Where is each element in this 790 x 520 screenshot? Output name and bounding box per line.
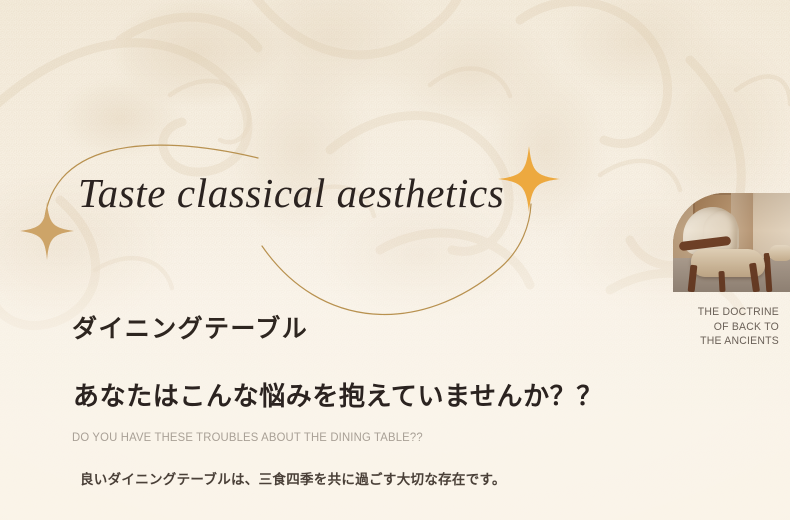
photo-shading-overlay: [673, 193, 790, 292]
dining-chair-photo: [673, 193, 790, 292]
supporting-note: 良いダイニングテーブルは、三食四季を共に過ごす大切な存在です。: [80, 468, 506, 488]
photo-illustration: [673, 193, 790, 292]
question-headline: あなたはこんな悩みを抱えていませんか？？: [73, 376, 603, 413]
photo-caption-line-1: THE DOCTRINE: [637, 305, 780, 320]
photo-caption-line-3: THE ANCIENTS: [637, 334, 780, 349]
product-category-title: ダイニングテーブル: [72, 309, 308, 345]
banner-root: Taste classical aesthetics ダイニングテーブル あなた…: [0, 0, 790, 520]
photo-caption: THE DOCTRINE OF BACK TO THE ANCIENTS: [637, 305, 780, 349]
question-subtitle-english: DO YOU HAVE THESE TROUBLES ABOUT THE DIN…: [72, 430, 423, 444]
hero-title: Taste classical aesthetics: [78, 169, 504, 217]
photo-caption-line-2: OF BACK TO: [637, 320, 780, 335]
